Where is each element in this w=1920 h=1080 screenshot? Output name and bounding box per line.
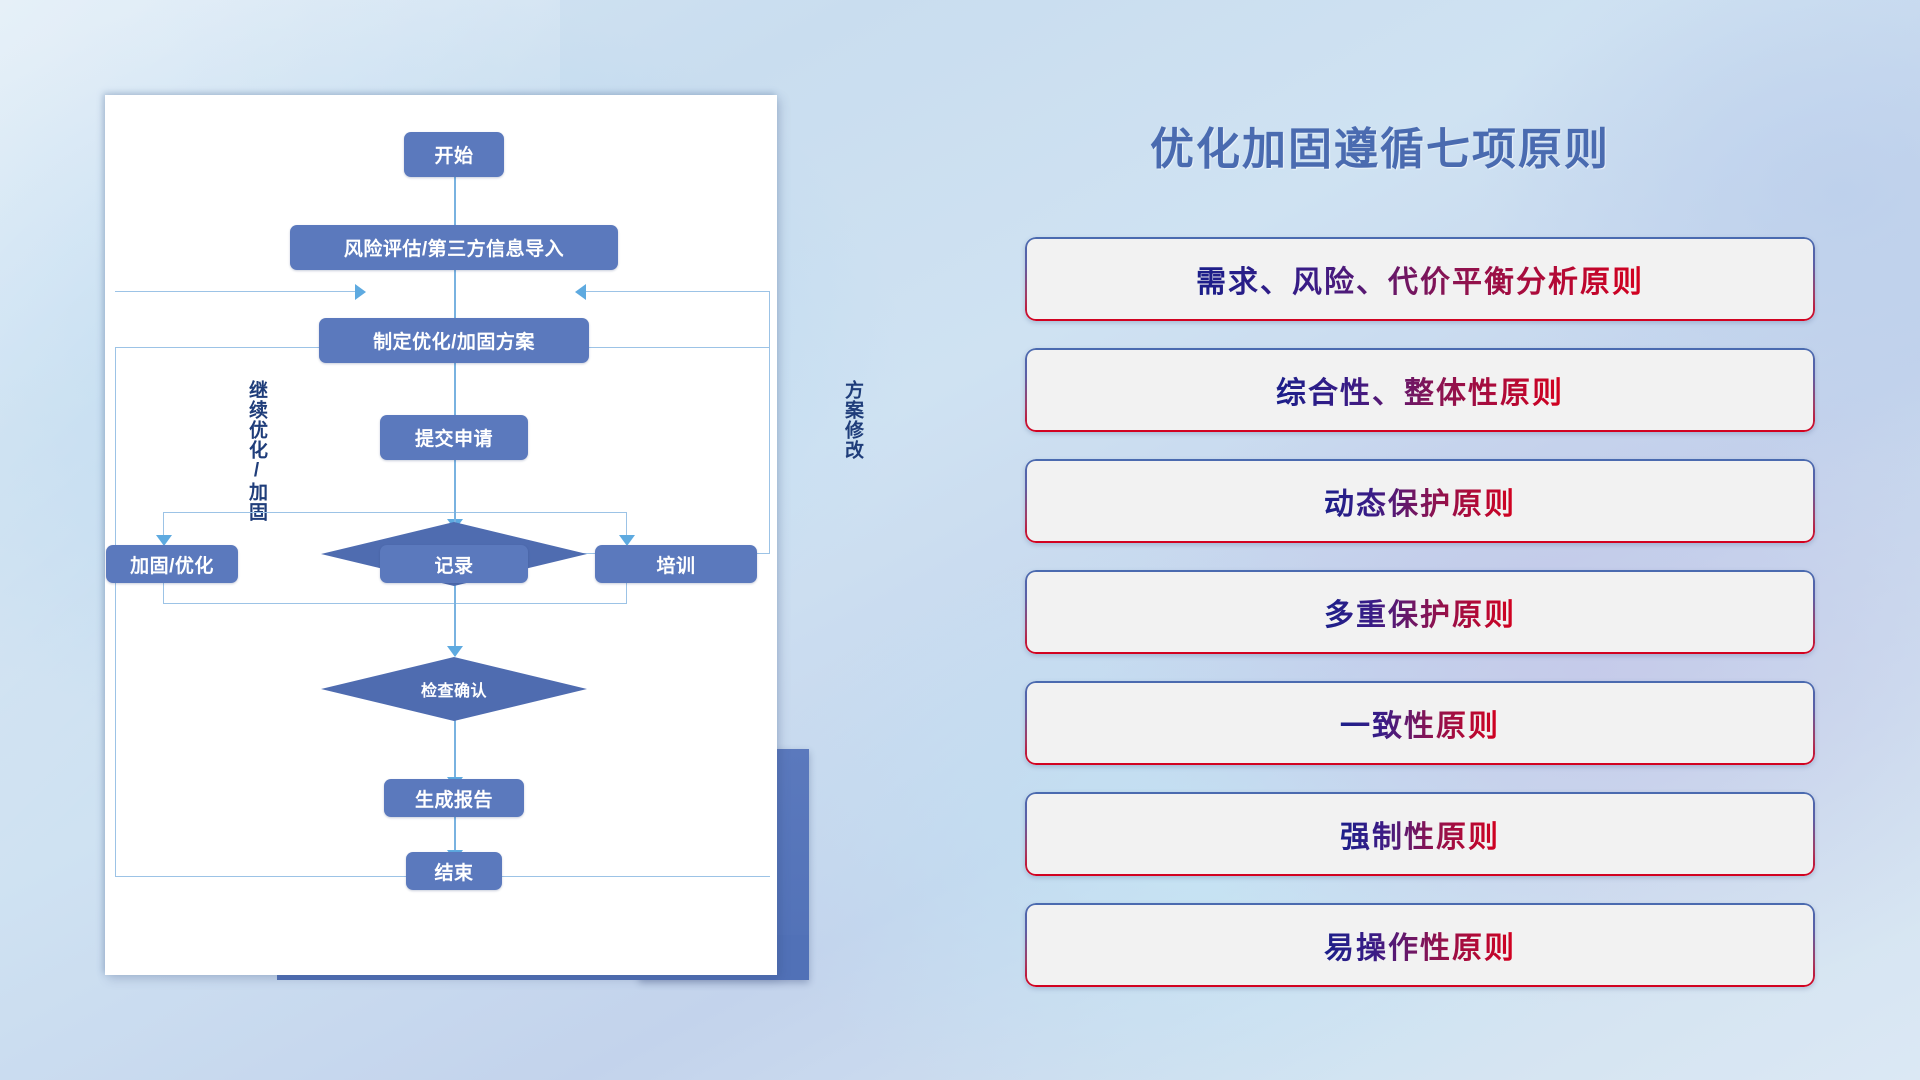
arrowhead-loop-right-return: [575, 284, 586, 300]
principle-item-4-label: 多重保护原则: [1324, 590, 1516, 634]
principle-item-5-label: 一致性原则: [1340, 701, 1500, 745]
flow-node-training[interactable]: 培训: [595, 545, 757, 583]
connector-loop-left-return: [115, 291, 358, 292]
principle-item-1-label: 需求、风险、代价平衡分析原则: [1196, 257, 1644, 301]
principle-item-7[interactable]: 易操作性原则: [1025, 903, 1815, 987]
flow-node-plan[interactable]: 制定优化/加固方案: [319, 318, 589, 363]
principles-panel-title: 优化加固遵循七项原则: [1150, 113, 1610, 177]
principle-item-6[interactable]: 强制性原则: [1025, 792, 1815, 876]
flow-node-check-confirm-label: 检查确认: [321, 657, 587, 721]
flow-node-reinforce-label: 加固/优化: [130, 551, 214, 578]
connector-merge-horizontal: [163, 603, 627, 604]
flow-node-report[interactable]: 生成报告: [384, 779, 524, 817]
principle-item-3[interactable]: 动态保护原则: [1025, 459, 1815, 543]
flow-label-plan-revision: 方案修改: [841, 380, 864, 460]
connector-plan-submit: [454, 363, 456, 423]
flow-node-risk-assessment-label: 风险评估/第三方信息导入: [344, 234, 564, 261]
principle-item-2[interactable]: 综合性、整体性原则: [1025, 348, 1815, 432]
principle-item-1[interactable]: 需求、风险、代价平衡分析原则: [1025, 237, 1815, 321]
connector-loop-right-rise: [769, 291, 770, 554]
connector-report-end: [454, 817, 456, 854]
flow-node-record-label: 记录: [434, 551, 473, 578]
principle-item-7-label: 易操作性原则: [1324, 923, 1516, 967]
flow-node-end-label: 结束: [434, 858, 473, 885]
flow-node-submit[interactable]: 提交申请: [380, 415, 528, 460]
flow-node-training-label: 培训: [656, 551, 695, 578]
principle-item-5[interactable]: 一致性原则: [1025, 681, 1815, 765]
flow-node-start-label: 开始: [434, 141, 473, 168]
connector-check-report: [454, 720, 456, 780]
flow-label-continue-optimize: 继续优化/加固: [245, 380, 268, 522]
flow-node-start[interactable]: 开始: [404, 132, 504, 177]
flow-node-reinforce[interactable]: 加固/优化: [106, 545, 238, 583]
flow-node-end[interactable]: 结束: [406, 852, 502, 890]
principle-item-3-label: 动态保护原则: [1324, 479, 1516, 523]
connector-loop-right-return: [585, 291, 770, 292]
flow-node-report-label: 生成报告: [415, 785, 493, 812]
flow-node-submit-label: 提交申请: [415, 424, 493, 451]
connector-merge-center: [454, 575, 456, 650]
flow-node-risk-assessment[interactable]: 风险评估/第三方信息导入: [290, 225, 618, 270]
arrowhead-loop-left-return: [355, 284, 366, 300]
principle-item-4[interactable]: 多重保护原则: [1025, 570, 1815, 654]
flow-node-record[interactable]: 记录: [380, 545, 528, 583]
principle-item-2-label: 综合性、整体性原则: [1276, 368, 1564, 412]
principle-item-6-label: 强制性原则: [1340, 812, 1500, 856]
flow-node-plan-label: 制定优化/加固方案: [373, 327, 535, 354]
flow-node-check-confirm[interactable]: 检查确认: [321, 657, 587, 721]
connector-fanout-horizontal: [163, 512, 627, 513]
arrowhead-to-check: [447, 646, 463, 657]
flowchart-card: 继续优化/加固 方案修改 开始 风险评估/第三: [105, 95, 777, 975]
